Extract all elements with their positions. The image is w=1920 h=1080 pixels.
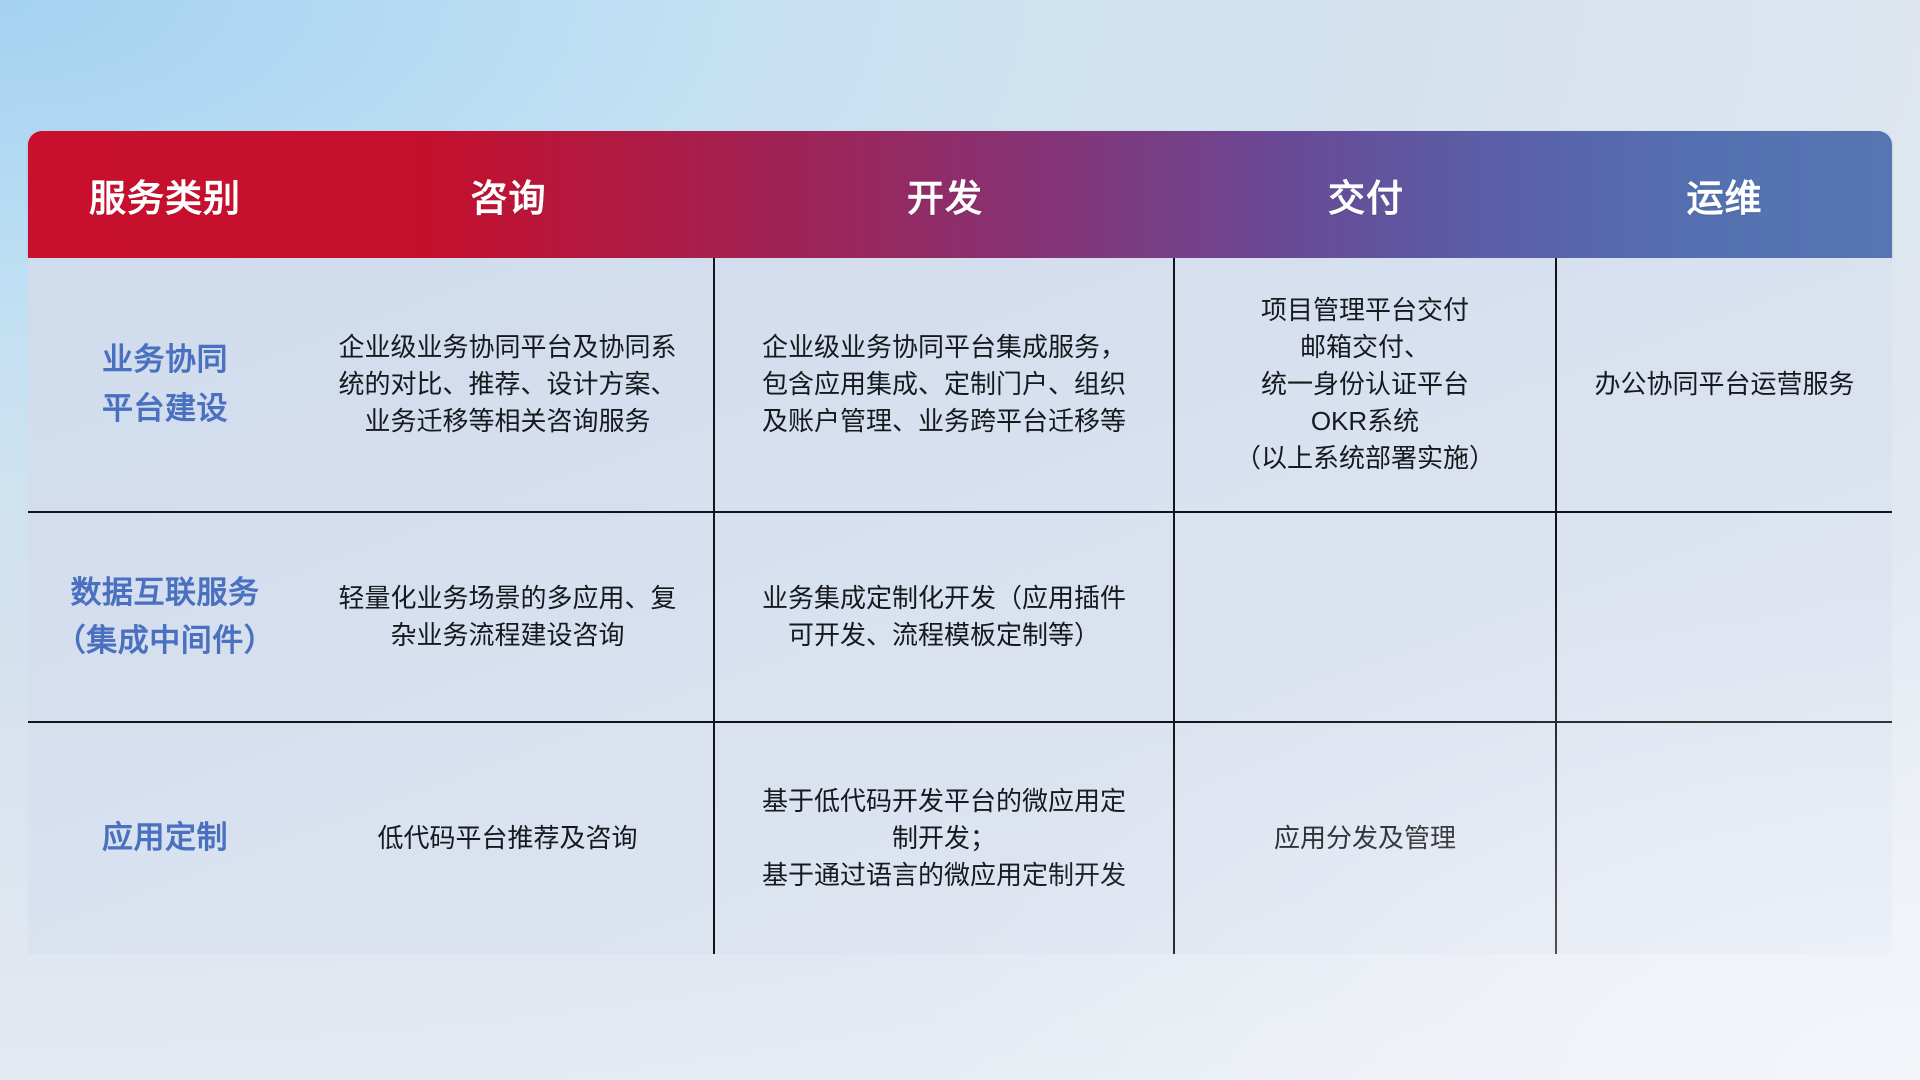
cell-consulting: 企业级业务协同平台及协同系 统的对比、推荐、设计方案、 业务迁移等相关咨询服务 <box>302 258 715 511</box>
column-header-consulting: 咨询 <box>302 131 715 258</box>
cell-consulting: 轻量化业务场景的多应用、复 杂业务流程建设咨询 <box>302 513 715 721</box>
table-header-row: 服务类别 咨询 开发 交付 运维 <box>28 131 1892 258</box>
cell-development: 基于低代码开发平台的微应用定 制开发； 基于通过语言的微应用定制开发 <box>715 723 1175 954</box>
column-header-development: 开发 <box>715 131 1175 258</box>
cell-operations <box>1557 513 1892 721</box>
row-category-label: 业务协同 平台建设 <box>28 258 302 511</box>
cell-operations <box>1557 723 1892 954</box>
column-header-delivery: 交付 <box>1175 131 1557 258</box>
service-matrix-table: 服务类别 咨询 开发 交付 运维 业务协同 平台建设 企业级业务协同平台及协同系… <box>28 131 1892 955</box>
slide-canvas: 服务类别 咨询 开发 交付 运维 业务协同 平台建设 企业级业务协同平台及协同系… <box>0 0 1920 1080</box>
cell-development: 企业级业务协同平台集成服务， 包含应用集成、定制门户、组织 及账户管理、业务跨平… <box>715 258 1175 511</box>
table-row: 应用定制 低代码平台推荐及咨询 基于低代码开发平台的微应用定 制开发； 基于通过… <box>28 723 1892 954</box>
column-header-category: 服务类别 <box>28 131 302 258</box>
cell-development: 业务集成定制化开发（应用插件 可开发、流程模板定制等） <box>715 513 1175 721</box>
table-row: 业务协同 平台建设 企业级业务协同平台及协同系 统的对比、推荐、设计方案、 业务… <box>28 258 1892 513</box>
cell-delivery: 应用分发及管理 <box>1175 723 1557 954</box>
table-body: 业务协同 平台建设 企业级业务协同平台及协同系 统的对比、推荐、设计方案、 业务… <box>28 258 1892 954</box>
cell-operations: 办公协同平台运营服务 <box>1557 258 1892 511</box>
cell-consulting: 低代码平台推荐及咨询 <box>302 723 715 954</box>
cell-delivery <box>1175 513 1557 721</box>
table-row: 数据互联服务 （集成中间件） 轻量化业务场景的多应用、复 杂业务流程建设咨询 业… <box>28 513 1892 723</box>
row-category-label: 数据互联服务 （集成中间件） <box>28 513 302 721</box>
row-category-label: 应用定制 <box>28 723 302 954</box>
column-header-operations: 运维 <box>1557 131 1892 258</box>
cell-delivery: 项目管理平台交付 邮箱交付、 统一身份认证平台 OKR系统 （以上系统部署实施） <box>1175 258 1557 511</box>
